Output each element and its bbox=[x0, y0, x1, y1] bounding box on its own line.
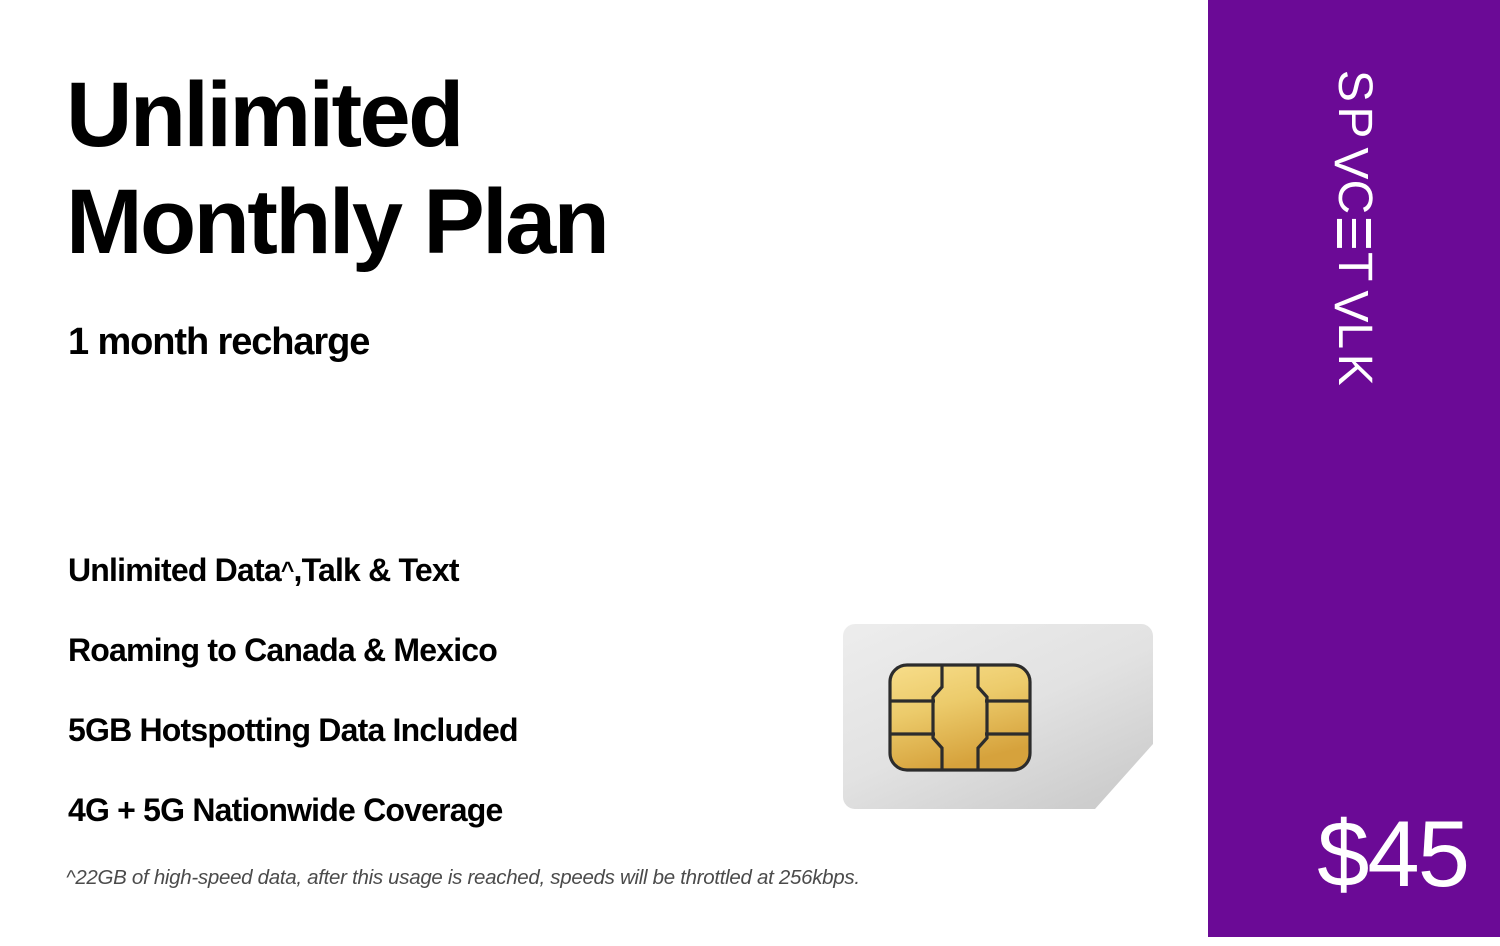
list-item: Roaming to Canada & Mexico bbox=[68, 610, 768, 690]
logo-text-sp: SP bbox=[1330, 70, 1378, 143]
page-title: Unlimited Monthly Plan bbox=[66, 62, 826, 275]
logo-text-lk: LK bbox=[1330, 322, 1378, 390]
feature-label-main: 4G + 5G Nationwide Coverage bbox=[68, 794, 503, 826]
footnote-text: ^22GB of high-speed data, after this usa… bbox=[66, 866, 860, 891]
feature-label-main: Roaming to Canada & Mexico bbox=[68, 634, 497, 666]
plan-subtitle: 1 month recharge bbox=[68, 322, 369, 364]
logo-glyph-a2: Λ bbox=[1329, 286, 1377, 323]
feature-list: Unlimited Data^,Talk & Text Roaming to C… bbox=[68, 530, 768, 850]
plan-content: Unlimited Monthly Plan 1 month recharge … bbox=[0, 0, 1208, 946]
list-item: 5GB Hotspotting Data Included bbox=[68, 690, 768, 770]
logo-text-c: C bbox=[1330, 180, 1378, 219]
feature-label-rest: ,Talk & Text bbox=[294, 554, 459, 586]
list-item: 4G + 5G Nationwide Coverage bbox=[68, 770, 768, 850]
plan-card: Unlimited Monthly Plan 1 month recharge … bbox=[0, 0, 1500, 946]
logo-glyph-e bbox=[1337, 219, 1371, 248]
feature-label-main: 5GB Hotspotting Data Included bbox=[68, 714, 518, 746]
logo-glyph-a: Λ bbox=[1329, 143, 1377, 180]
plan-price: $45 bbox=[1317, 807, 1468, 901]
feature-label-main: Unlimited Data bbox=[68, 554, 281, 586]
brand-panel: SPΛCTΛLK $45 bbox=[1208, 0, 1500, 937]
spacetalk-logo: SPΛCTΛLK bbox=[1330, 70, 1378, 390]
logo-text-t: T bbox=[1330, 252, 1378, 286]
list-item: Unlimited Data^,Talk & Text bbox=[68, 530, 768, 610]
sim-card-icon bbox=[843, 624, 1153, 809]
